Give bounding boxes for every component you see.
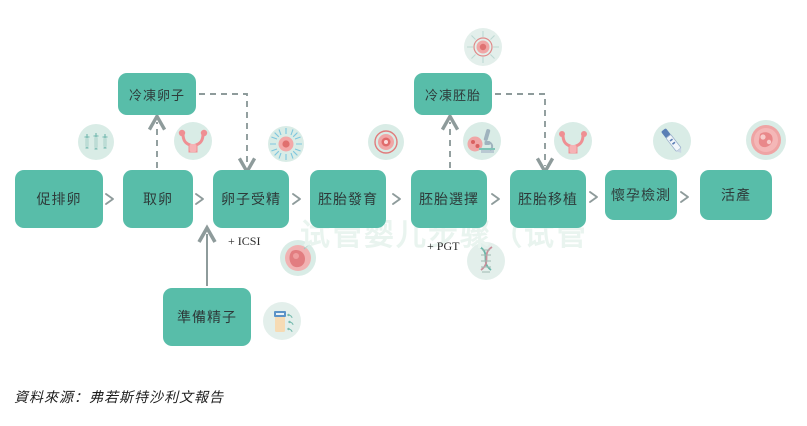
frozen-embryo-icon [464, 28, 502, 66]
uterus-ovaries-icon [174, 122, 212, 160]
sperm-sample-icon [263, 302, 301, 340]
node-embryo-selection[interactable]: 胚胎選擇 [411, 170, 487, 228]
source-footer: 資料來源：弗若斯特沙利文報告 [14, 387, 224, 407]
node-frozen-eggs[interactable]: 冷凍卵子 [118, 73, 196, 115]
label-icsi: + ICSI [228, 234, 260, 249]
node-embryo-development[interactable]: 胚胎發育 [310, 170, 386, 228]
blastocyst-icon [280, 240, 316, 276]
node-frozen-embryos[interactable]: 冷凍胚胎 [414, 73, 492, 115]
pregnancy-stick-icon [653, 122, 691, 160]
node-embryo-transfer[interactable]: 胚胎移植 [510, 170, 586, 228]
flow-arrows [106, 192, 688, 204]
node-ovarian-stimulation[interactable]: 促排卵 [15, 170, 103, 228]
label-pgt: + PGT [427, 239, 459, 254]
node-pregnancy-test[interactable]: 懷孕檢測 [605, 170, 677, 220]
dashed-frozen-embryos-to-transfer [495, 94, 545, 166]
uterus-transfer-icon [554, 122, 592, 160]
syringes-icon [78, 124, 114, 160]
fertilized-egg-icon [268, 126, 304, 162]
microscope-icon [463, 122, 501, 160]
ivf-process-diagram: 试管婴儿步骤（试管 [0, 0, 807, 426]
newborn-baby-icon [746, 120, 786, 160]
dna-helix-icon [467, 242, 505, 280]
node-egg-retrieval[interactable]: 取卵 [123, 170, 193, 228]
node-live-birth[interactable]: 活產 [700, 170, 772, 220]
connector-layer [0, 0, 807, 426]
node-fertilization[interactable]: 卵子受精 [213, 170, 289, 228]
embryo-cell-icon [368, 124, 404, 160]
node-sperm-prep[interactable]: 準備精子 [163, 288, 251, 346]
